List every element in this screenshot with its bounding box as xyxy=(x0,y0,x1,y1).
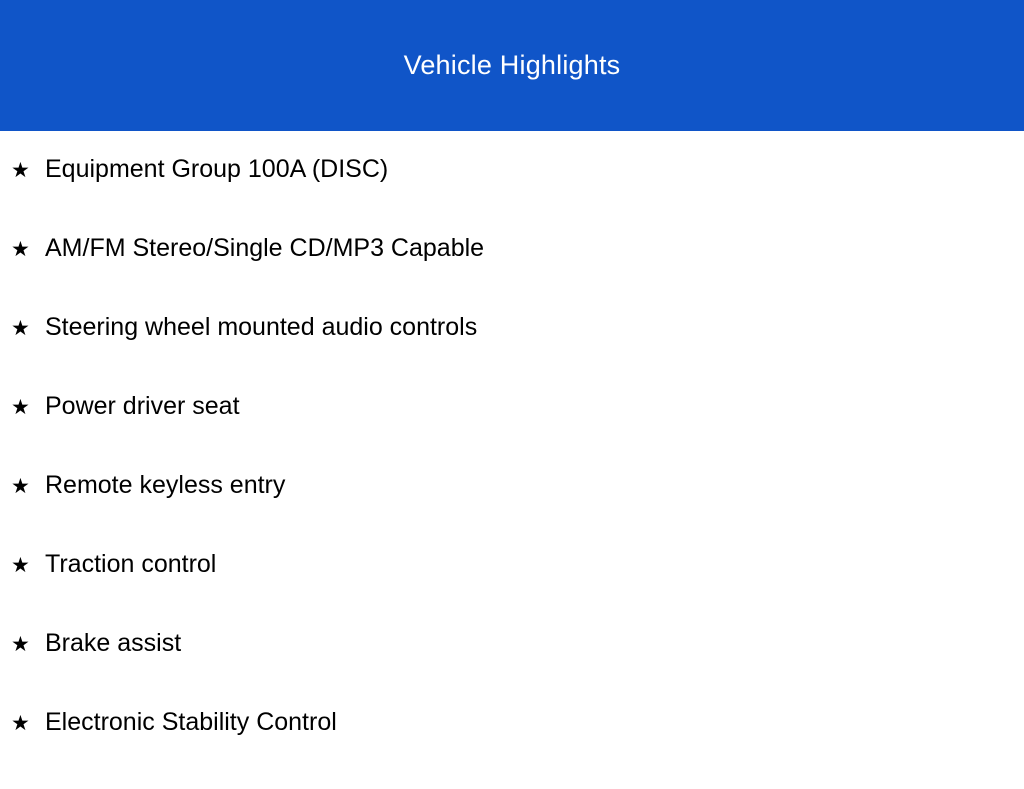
list-item-label: Electronic Stability Control xyxy=(45,710,337,735)
star-icon: ★ xyxy=(11,555,45,576)
list-item: ★ AM/FM Stereo/Single CD/MP3 Capable xyxy=(0,236,1024,315)
header-banner: Vehicle Highlights xyxy=(0,0,1024,131)
vehicle-highlights-page: Vehicle Highlights ★ Equipment Group 100… xyxy=(0,0,1024,768)
list-item-label: Steering wheel mounted audio controls xyxy=(45,315,477,340)
star-icon: ★ xyxy=(11,239,45,260)
vehicle-highlights-list: ★ Equipment Group 100A (DISC) ★ AM/FM St… xyxy=(0,131,1024,789)
list-item: ★ Steering wheel mounted audio controls xyxy=(0,315,1024,394)
page-title: Vehicle Highlights xyxy=(404,52,621,79)
list-item-label: Brake assist xyxy=(45,631,181,656)
star-icon: ★ xyxy=(11,318,45,339)
list-item: ★ Electronic Stability Control xyxy=(0,710,1024,789)
star-icon: ★ xyxy=(11,713,45,734)
star-icon: ★ xyxy=(11,397,45,418)
list-item: ★ Remote keyless entry xyxy=(0,473,1024,552)
list-item-label: Equipment Group 100A (DISC) xyxy=(45,157,388,182)
list-item: ★ Brake assist xyxy=(0,631,1024,710)
list-item: ★ Power driver seat xyxy=(0,394,1024,473)
star-icon: ★ xyxy=(11,634,45,655)
list-item: ★ Equipment Group 100A (DISC) xyxy=(0,157,1024,236)
list-item-label: Traction control xyxy=(45,552,216,577)
star-icon: ★ xyxy=(11,476,45,497)
list-item: ★ Traction control xyxy=(0,552,1024,631)
list-item-label: AM/FM Stereo/Single CD/MP3 Capable xyxy=(45,236,484,261)
star-icon: ★ xyxy=(11,160,45,181)
list-item-label: Remote keyless entry xyxy=(45,473,285,498)
list-item-label: Power driver seat xyxy=(45,394,240,419)
